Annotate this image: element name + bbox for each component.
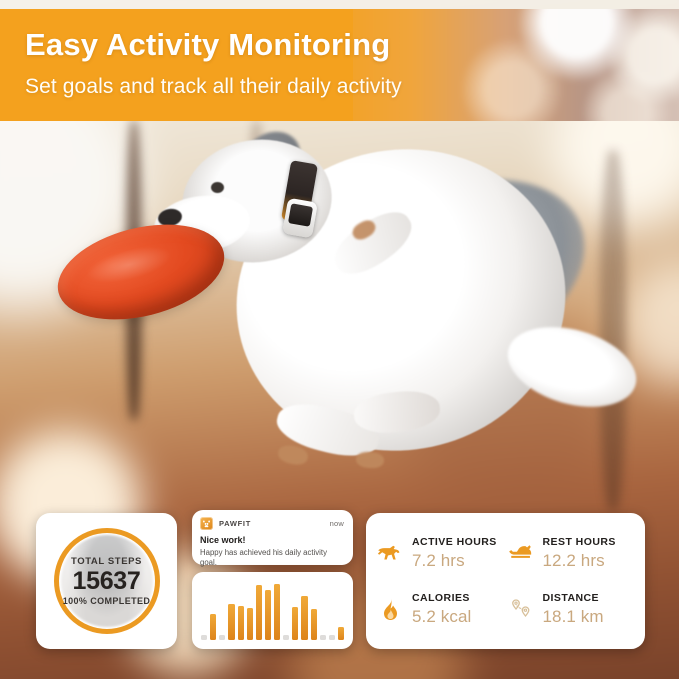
total-steps-card[interactable]: TOTAL STEPS 15637 100% COMPLETED (36, 513, 177, 649)
chart-bar (311, 609, 317, 641)
notification-body: Happy has achieved his daily activity go… (192, 545, 353, 567)
stats-grid: ACTIVE HOURS 7.2 hrs REST HOURS 12.2 hrs (366, 513, 645, 649)
chart-bar (274, 584, 280, 640)
stat-label: CALORIES (412, 592, 471, 604)
total-steps-value: 15637 (72, 567, 140, 597)
chart-bar (228, 604, 234, 640)
stat-active-hours-text: ACTIVE HOURS 7.2 hrs (412, 536, 497, 571)
widget-overlay: TOTAL STEPS 15637 100% COMPLETED PAWFIT … (0, 0, 679, 679)
chart-bar (292, 607, 298, 640)
chart-bar (338, 627, 344, 640)
stat-label: REST HOURS (543, 536, 616, 548)
running-dog-icon (376, 540, 404, 566)
chart-bar (265, 590, 271, 640)
chart-bar (301, 596, 307, 640)
activity-chart-card[interactable] (192, 572, 353, 649)
activity-stats-card[interactable]: ACTIVE HOURS 7.2 hrs REST HOURS 12.2 hrs (366, 513, 645, 649)
stat-rest-hours-text: REST HOURS 12.2 hrs (543, 536, 616, 571)
stat-distance-text: DISTANCE 18.1 km (543, 592, 604, 627)
flame-icon (376, 596, 404, 622)
chart-bar (247, 608, 253, 640)
dog-app-icon (200, 517, 213, 530)
route-pins-icon (507, 596, 535, 622)
chart-bar (320, 635, 326, 640)
stat-label: ACTIVE HOURS (412, 536, 497, 548)
chart-bar (238, 606, 244, 640)
chart-bar (283, 635, 289, 640)
notification-app-name: PAWFIT (219, 519, 330, 528)
steps-progress-ring: TOTAL STEPS 15637 100% COMPLETED (54, 528, 160, 634)
chart-bar (256, 585, 262, 640)
chart-bar (219, 635, 225, 640)
resting-dog-icon (507, 540, 535, 566)
chart-bar (329, 635, 335, 640)
stat-distance[interactable]: DISTANCE 18.1 km (507, 581, 638, 637)
stat-active-hours[interactable]: ACTIVE HOURS 7.2 hrs (376, 525, 507, 581)
stat-value: 7.2 hrs (412, 551, 497, 571)
notification-time: now (330, 519, 344, 528)
stat-value: 5.2 kcal (412, 607, 471, 627)
ring-text-block: TOTAL STEPS 15637 100% COMPLETED (54, 528, 160, 634)
notification-card[interactable]: PAWFIT now Nice work! Happy has achieved… (192, 510, 353, 565)
chart-bar (210, 614, 216, 640)
activity-bar-chart (201, 584, 344, 640)
notification-title: Nice work! (192, 530, 353, 545)
stat-rest-hours[interactable]: REST HOURS 12.2 hrs (507, 525, 638, 581)
chart-bar (201, 635, 207, 640)
stat-calories-text: CALORIES 5.2 kcal (412, 592, 471, 627)
total-steps-completion: 100% COMPLETED (63, 596, 151, 606)
total-steps-label: TOTAL STEPS (71, 556, 142, 567)
stat-value: 18.1 km (543, 607, 604, 627)
stat-label: DISTANCE (543, 592, 604, 604)
stat-value: 12.2 hrs (543, 551, 616, 571)
stat-calories[interactable]: CALORIES 5.2 kcal (376, 581, 507, 637)
notification-header: PAWFIT now (192, 510, 353, 530)
